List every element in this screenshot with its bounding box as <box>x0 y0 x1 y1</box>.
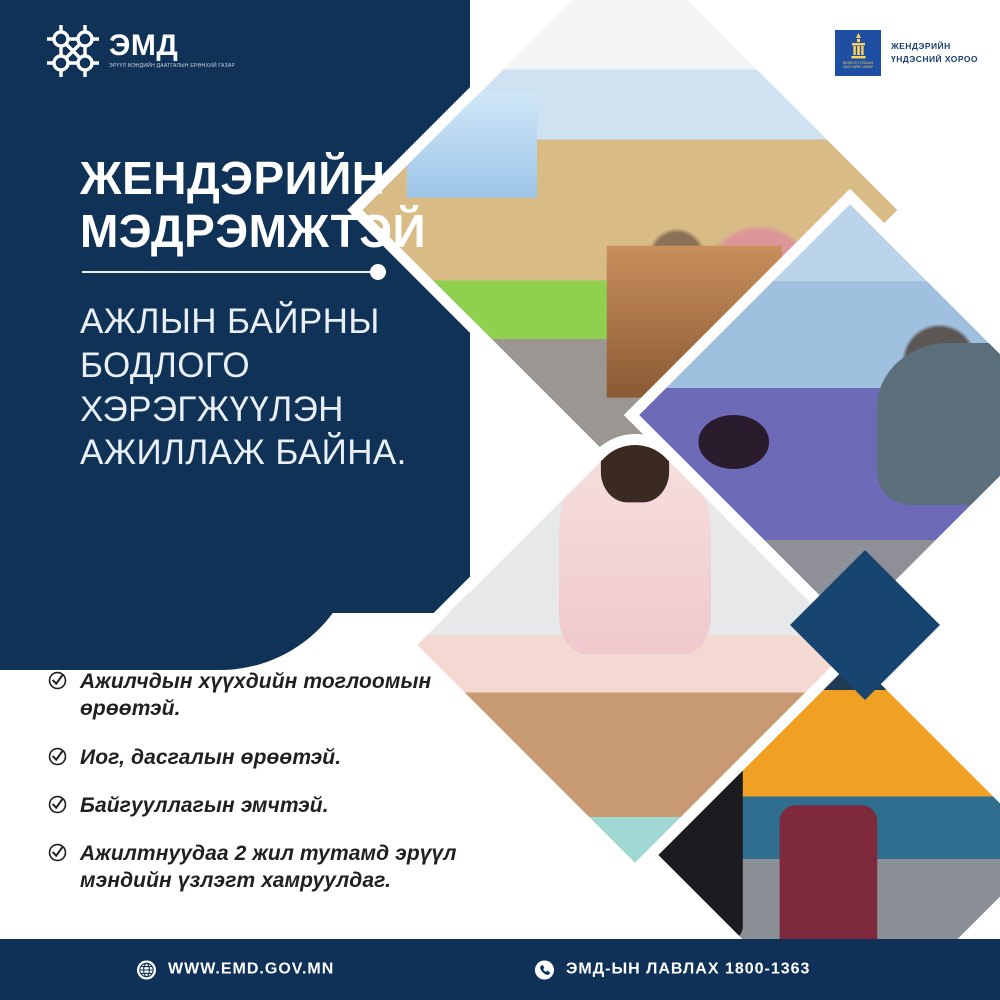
subheadline-line1: АЖЛЫН БАЙРНЫ <box>80 300 407 344</box>
poster-root: ЭМД ЭРҮҮЛ МЭНДИЙН ДААТГАЛЫН ЕРӨНХИЙ ГАЗА… <box>0 0 1000 1000</box>
headline-divider-dot <box>370 264 386 280</box>
list-item: Иог, дасгалын өрөөтэй. <box>48 744 518 771</box>
subheadline-line2: БОДЛОГО <box>80 344 407 388</box>
list-item: Байгууллагын эмчтэй. <box>48 792 518 819</box>
emblem-caption: МОНГОЛ УЛСЫН ЗАСГИЙН ГАЗАР <box>835 61 881 70</box>
subheadline-line4: АЖИЛЛАЖ БАЙНА. <box>80 431 407 475</box>
benefits-checklist: Ажилчдын хүүхдийн тоглоомын өрөөтэй. Иог… <box>48 668 518 916</box>
footer-phone-label: ЭМД-ЫН ЛАВЛАХ 1800-1363 <box>566 961 810 979</box>
emd-logo-text: ЭМД ЭРҮҮЛ МЭНДИЙН ДААТГАЛЫН ЕРӨНХИЙ ГАЗА… <box>109 32 235 70</box>
gender-committee-name-line1: ЖЕНДЭРИЙН <box>891 40 978 53</box>
soyombo-icon <box>850 33 867 60</box>
list-item-label: Байгууллагын эмчтэй. <box>80 792 329 819</box>
list-item-label: Иог, дасгалын өрөөтэй. <box>80 744 341 771</box>
gender-committee-name: ЖЕНДЭРИЙН ҮНДЭСНИЙ ХОРОО <box>891 40 978 66</box>
globe-icon <box>136 959 157 980</box>
phone-icon <box>534 959 555 980</box>
headline-line2: МЭДРЭМЖТЭЙ <box>80 205 426 258</box>
mongolia-state-emblem-icon: МОНГОЛ УЛСЫН ЗАСГИЙН ГАЗАР <box>835 30 881 76</box>
footer-phone[interactable]: ЭМД-ЫН ЛАВЛАХ 1800-1363 <box>534 959 810 980</box>
headline-line1: ЖЕНДЭРИЙН <box>80 152 426 205</box>
circled-check-icon <box>48 747 67 766</box>
footer-bar: WWW.EMD.GOV.MN ЭМД-ЫН ЛАВЛАХ 1800-1363 <box>0 939 1000 1000</box>
headline-divider <box>82 271 378 273</box>
subheadline-line3: ХЭРЭГЖҮҮЛЭН <box>80 388 407 432</box>
emd-logo-word: ЭМД <box>109 32 235 61</box>
list-item-label: Ажилчдын хүүхдийн тоглоомын өрөөтэй. <box>80 668 518 723</box>
footer-website[interactable]: WWW.EMD.GOV.MN <box>136 959 334 980</box>
circled-check-icon <box>48 795 67 814</box>
emd-logo-subtitle: ЭРҮҮЛ МЭНДИЙН ДААТГАЛЫН ЕРӨНХИЙ ГАЗАР <box>109 63 235 70</box>
gender-committee-logo[interactable]: МОНГОЛ УЛСЫН ЗАСГИЙН ГАЗАР ЖЕНДЭРИЙН ҮНД… <box>835 30 978 76</box>
list-item: Ажилтнуудаа 2 жил тутамд эрүүл мэндийн ү… <box>48 840 518 895</box>
gender-committee-name-line2: ҮНДЭСНИЙ ХОРОО <box>891 53 978 66</box>
circled-check-icon <box>48 843 67 862</box>
footer-website-label: WWW.EMD.GOV.MN <box>168 961 334 979</box>
headline: ЖЕНДЭРИЙН МЭДРЭМЖТЭЙ <box>80 152 426 258</box>
list-item: Ажилчдын хүүхдийн тоглоомын өрөөтэй. <box>48 668 518 723</box>
circled-check-icon <box>48 671 67 690</box>
knot-icon <box>46 24 100 78</box>
list-item-label: Ажилтнуудаа 2 жил тутамд эрүүл мэндийн ү… <box>80 840 518 895</box>
subheadline: АЖЛЫН БАЙРНЫ БОДЛОГО ХЭРЭГЖҮҮЛЭН АЖИЛЛАЖ… <box>80 300 407 475</box>
emd-logo[interactable]: ЭМД ЭРҮҮЛ МЭНДИЙН ДААТГАЛЫН ЕРӨНХИЙ ГАЗА… <box>46 24 235 78</box>
